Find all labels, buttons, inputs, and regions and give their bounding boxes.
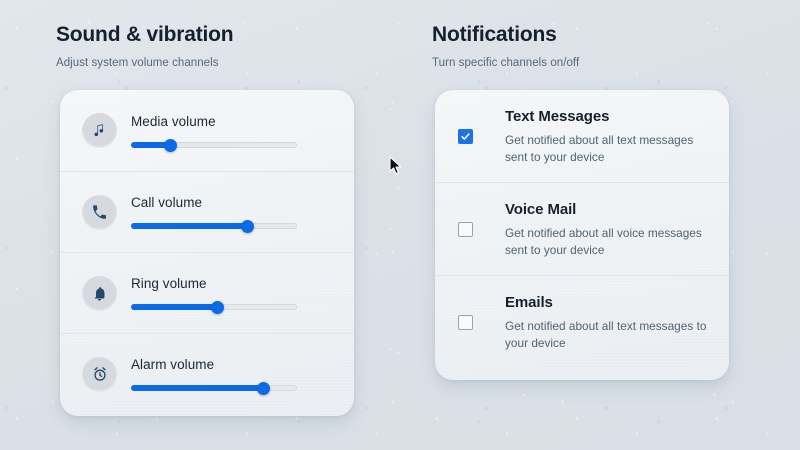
volume-slider-media[interactable] (131, 141, 297, 149)
checkbox-wrap-emails[interactable] (458, 315, 493, 330)
notification-row-voice-mail[interactable]: Voice Mail Get notified about all voice … (435, 182, 729, 275)
volume-slider-call[interactable] (131, 222, 297, 230)
volume-row-call[interactable]: Call volume (60, 171, 354, 252)
volume-row-media[interactable]: Media volume (60, 90, 354, 171)
sound-section-title: Sound & vibration (56, 22, 376, 48)
notifications-section-subtitle: Turn specific channels on/off (432, 55, 742, 71)
notification-body-text-messages: Text Messages Get notified about all tex… (505, 107, 709, 165)
volume-label-ring: Ring volume (131, 275, 336, 292)
volume-label-call: Call volume (131, 194, 336, 211)
slider-thumb[interactable] (257, 382, 270, 395)
notification-body-voice-mail: Voice Mail Get notified about all voice … (505, 200, 709, 258)
notification-title: Emails (505, 293, 709, 312)
bell-icon (82, 276, 117, 311)
volume-slider-alarm[interactable] (131, 384, 297, 392)
checkbox-wrap-voice-mail[interactable] (458, 222, 493, 237)
notification-description: Get notified about all voice messages se… (505, 225, 709, 258)
volume-slider-ring[interactable] (131, 303, 297, 311)
mouse-cursor (389, 156, 403, 181)
volume-body-media: Media volume (131, 113, 354, 149)
notifications-section-title: Notifications (432, 22, 742, 48)
notifications-card: Text Messages Get notified about all tex… (435, 90, 729, 380)
notification-row-emails[interactable]: Emails Get notified about all text messa… (435, 275, 729, 368)
slider-fill (131, 385, 264, 391)
slider-fill (131, 304, 217, 310)
slider-thumb[interactable] (241, 220, 254, 233)
volume-body-ring: Ring volume (131, 275, 354, 311)
notification-title: Text Messages (505, 107, 709, 126)
sound-settings-card: Media volume Call volume (60, 90, 354, 416)
sound-section-subtitle: Adjust system volume channels (56, 55, 376, 71)
music-note-icon (82, 113, 117, 148)
notification-description: Get notified about all text messages to … (505, 318, 709, 351)
notification-title: Voice Mail (505, 200, 709, 219)
volume-body-alarm: Alarm volume (131, 356, 354, 392)
alarm-clock-icon (82, 357, 117, 392)
volume-label-media: Media volume (131, 113, 336, 130)
volume-label-alarm: Alarm volume (131, 356, 336, 373)
volume-row-ring[interactable]: Ring volume (60, 252, 354, 333)
checkbox-voice-mail[interactable] (458, 222, 473, 237)
volume-body-call: Call volume (131, 194, 354, 230)
phone-icon (82, 195, 117, 230)
notification-row-text-messages[interactable]: Text Messages Get notified about all tex… (435, 90, 729, 182)
checkbox-text-messages[interactable] (458, 129, 473, 144)
checkbox-wrap-text-messages[interactable] (458, 129, 493, 144)
notification-body-emails: Emails Get notified about all text messa… (505, 293, 709, 351)
notification-description: Get notified about all text messages sen… (505, 132, 709, 165)
notifications-section-header: Notifications Turn specific channels on/… (432, 22, 742, 71)
slider-thumb[interactable] (164, 139, 177, 152)
volume-row-alarm[interactable]: Alarm volume (60, 333, 354, 414)
slider-fill (131, 223, 247, 229)
slider-thumb[interactable] (211, 301, 224, 314)
sound-section-header: Sound & vibration Adjust system volume c… (56, 22, 376, 71)
checkbox-emails[interactable] (458, 315, 473, 330)
